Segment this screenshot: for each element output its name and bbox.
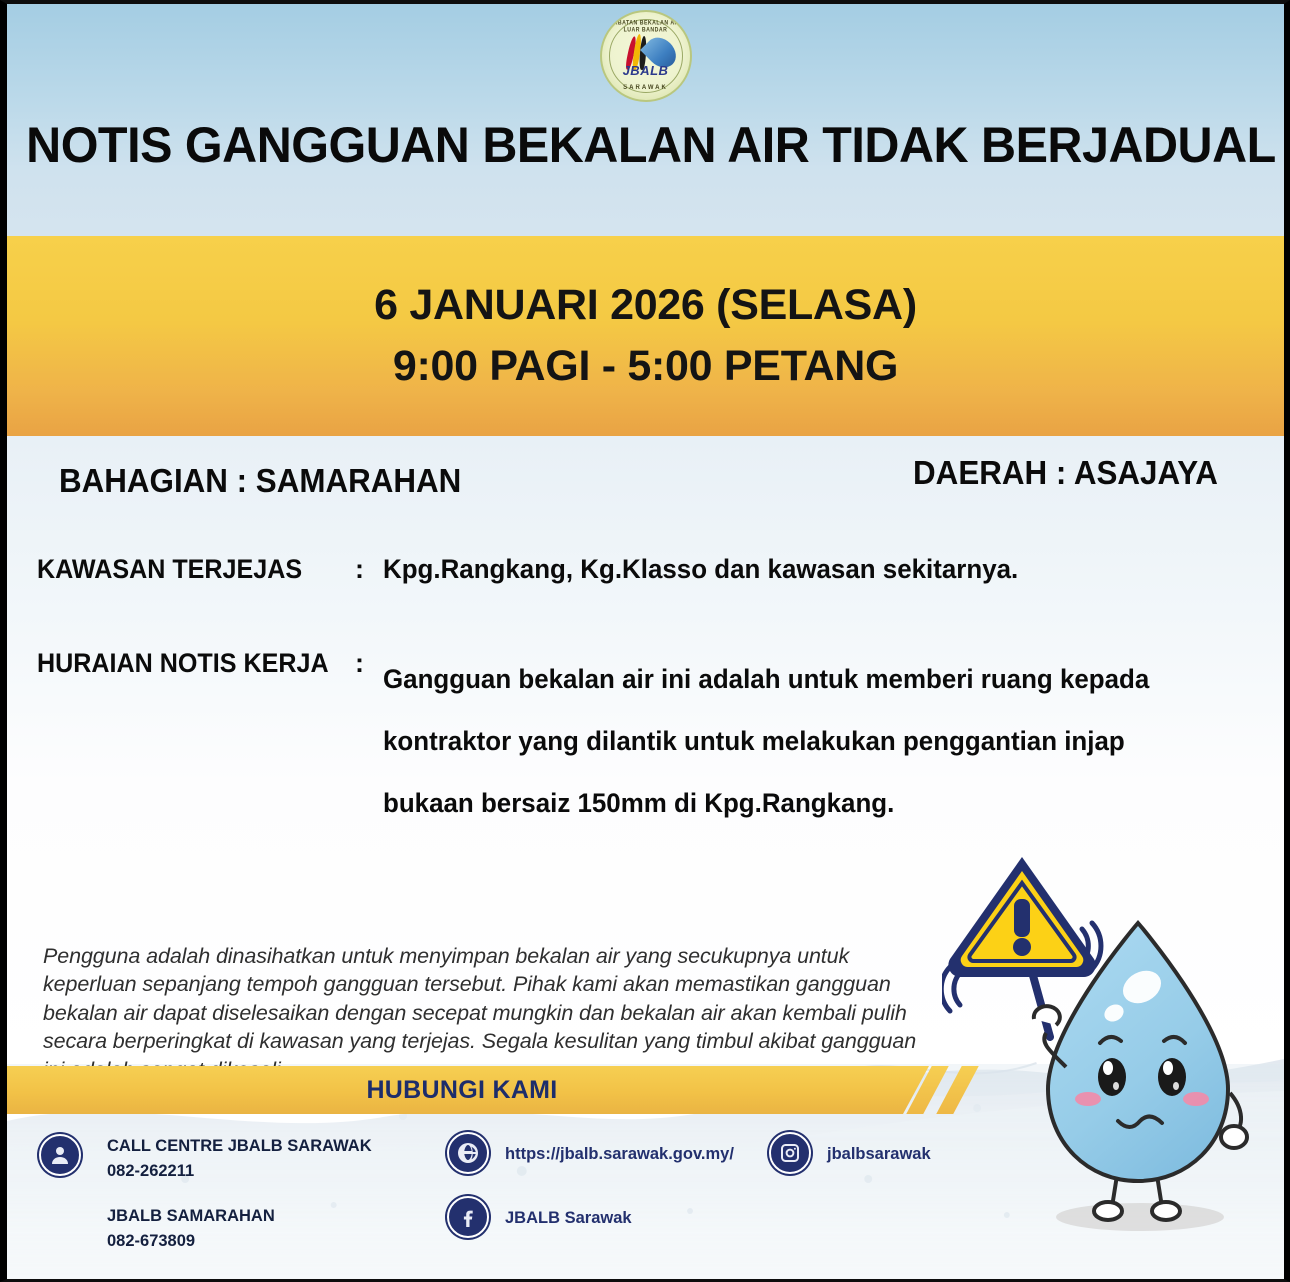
logo-arc-bottom-text: SARAWAK bbox=[602, 85, 690, 92]
website-link[interactable]: https://jbalb.sarawak.gov.my/ bbox=[505, 1142, 734, 1167]
date-banner: 6 JANUARI 2026 (SELASA) 9:00 PAGI - 5:00… bbox=[7, 236, 1284, 436]
call-centre-phone[interactable]: 082-262211 bbox=[107, 1159, 372, 1184]
work-description-line-3: bukaan bersaiz 150mm di Kpg.Rangkang. bbox=[383, 772, 1199, 834]
logo-name-text: JBALB bbox=[602, 63, 690, 78]
work-description-label: HURAIAN NOTIS KERJA bbox=[37, 648, 329, 679]
facebook-handle[interactable]: JBALB Sarawak bbox=[505, 1206, 632, 1231]
person-icon bbox=[39, 1134, 81, 1176]
affected-area-value: Kpg.Rangkang, Kg.Klasso dan kawasan seki… bbox=[383, 554, 1018, 585]
eye-left bbox=[1098, 1058, 1126, 1096]
division-label: BAHAGIAN : SAMARAHAN bbox=[59, 462, 461, 500]
water-droplet-mascot bbox=[942, 851, 1278, 1251]
water-disruption-notice-poster: JABATAN BEKALAN AIR LUAR BANDAR JBALB SA… bbox=[0, 0, 1290, 1282]
notice-time: 9:00 PAGI - 5:00 PETANG bbox=[393, 336, 898, 397]
work-description-line-2: kontraktor yang dilantik untuk melakukan… bbox=[383, 710, 1199, 772]
jbalb-logo-icon: JABATAN BEKALAN AIR LUAR BANDAR JBALB SA… bbox=[592, 6, 700, 112]
notice-date: 6 JANUARI 2026 (SELASA) bbox=[374, 275, 917, 336]
work-description-text: Gangguan bekalan air ini adalah untuk me… bbox=[383, 648, 1233, 834]
header-band: JABATAN BEKALAN AIR LUAR BANDAR JBALB SA… bbox=[7, 4, 1284, 236]
branch-phone[interactable]: 082-673809 bbox=[107, 1229, 275, 1254]
work-description-colon: : bbox=[355, 648, 364, 679]
work-description-line-1: Gangguan bekalan air ini adalah untuk me… bbox=[383, 648, 1199, 710]
advisory-text: Pengguna adalah dinasihatkan untuk menyi… bbox=[43, 942, 923, 1084]
branch-name: JBALB SAMARAHAN bbox=[107, 1204, 275, 1229]
facebook-icon[interactable] bbox=[447, 1196, 489, 1238]
affected-area-label: KAWASAN TERJEJAS bbox=[37, 554, 302, 585]
mascot-shadow bbox=[1056, 1203, 1224, 1231]
contact-bar: HUBUNGI KAMI bbox=[7, 1066, 929, 1114]
globe-icon[interactable] bbox=[447, 1132, 489, 1174]
call-centre-name: CALL CENTRE JBALB SARAWAK bbox=[107, 1134, 372, 1159]
mascot-hand-right bbox=[1221, 1126, 1247, 1148]
page-title: NOTIS GANGGUAN BEKALAN AIR TIDAK BERJADU… bbox=[26, 116, 1265, 174]
mascot-hand-left bbox=[1034, 1006, 1060, 1025]
region-row: BAHAGIAN : SAMARAHAN DAERAH : ASAJAYA bbox=[7, 462, 1284, 512]
affected-area-colon: : bbox=[355, 554, 364, 585]
branch-block: JBALB SAMARAHAN 082-673809 bbox=[107, 1204, 275, 1254]
instagram-handle[interactable]: jbalbsarawak bbox=[827, 1142, 931, 1167]
blush-right bbox=[1183, 1092, 1209, 1106]
eye-right bbox=[1158, 1058, 1186, 1096]
blush-left bbox=[1075, 1092, 1101, 1106]
logo-arc-top-text: JABATAN BEKALAN AIR LUAR BANDAR bbox=[602, 20, 690, 34]
district-label: DAERAH : ASAJAYA bbox=[913, 454, 1218, 492]
warning-triangle-sign bbox=[948, 857, 1095, 977]
instagram-icon[interactable] bbox=[769, 1132, 811, 1174]
call-centre-block: CALL CENTRE JBALB SARAWAK 082-262211 bbox=[107, 1134, 372, 1184]
contact-bar-title: HUBUNGI KAMI bbox=[366, 1076, 569, 1105]
